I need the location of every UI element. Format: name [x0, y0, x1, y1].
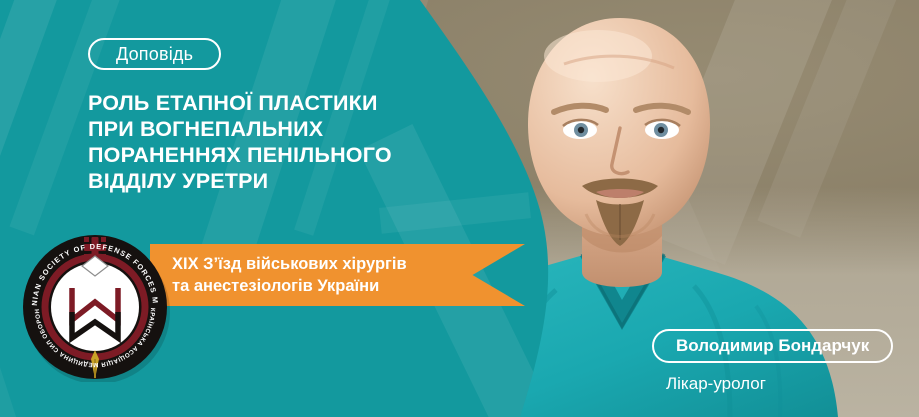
decorative-stripe: [379, 192, 531, 234]
presentation-title-line-3: ПОРАНЕННЯХ ПЕНІЛЬНОГО: [88, 142, 418, 168]
speaker-name-badge: Володимир Бондарчук: [652, 329, 893, 363]
event-name-banner: XIX З’їзд військових хірургів та анестез…: [150, 244, 525, 306]
report-type-badge: Доповідь: [88, 38, 221, 70]
speaker-role-label: Лікар-уролог: [666, 374, 766, 394]
speaker-name-label: Володимир Бондарчук: [676, 336, 869, 356]
report-type-badge-label: Доповідь: [116, 44, 193, 65]
event-name-line-2: та анестезіологів України: [172, 275, 525, 297]
ukrainian-society-defense-forces-medicine-emblem: UKRAINIAN SOCIETY OF DEFENSE FORCES MEDI…: [20, 232, 170, 382]
presentation-title: РОЛЬ ЕТАПНОЇ ПЛАСТИКИ ПРИ ВОГНЕПАЛЬНИХ П…: [88, 90, 418, 194]
presentation-title-line-4: ВІДДІЛУ УРЕТРИ: [88, 168, 418, 194]
conference-speaker-banner: Доповідь РОЛЬ ЕТАПНОЇ ПЛАСТИКИ ПРИ ВОГНЕ…: [0, 0, 919, 417]
presentation-title-line-1: РОЛЬ ЕТАПНОЇ ПЛАСТИКИ: [88, 90, 418, 116]
presentation-title-line-2: ПРИ ВОГНЕПАЛЬНИХ: [88, 116, 418, 142]
event-name-line-1: XIX З’їзд військових хірургів: [172, 253, 525, 275]
